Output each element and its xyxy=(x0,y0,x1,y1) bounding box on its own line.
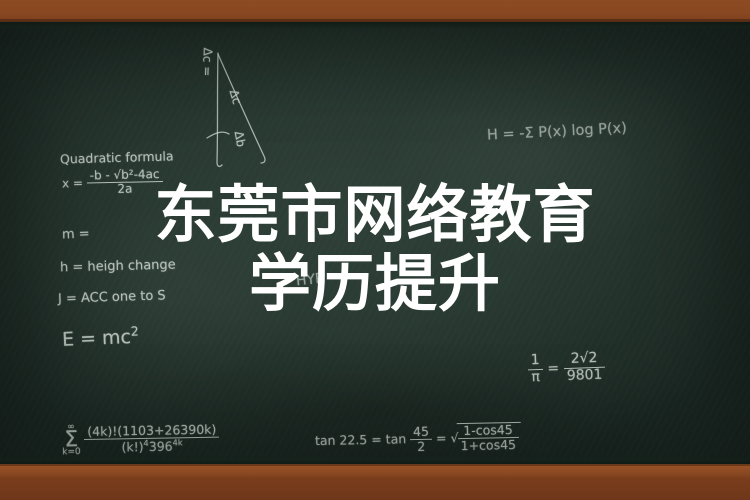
half-angle-fraction: 45 2 xyxy=(410,425,433,454)
half-angle-lhs: tan 22.5 = tan xyxy=(315,431,406,448)
den-tail-exp: 4k xyxy=(172,437,182,447)
chalkboard-frame-top xyxy=(0,0,750,22)
radical-bar: 1-cos45 1+cos45 xyxy=(456,422,521,453)
inverse-pi-right-fraction: 2√2 9801 xyxy=(563,351,606,385)
half-angle-num: 45 xyxy=(410,425,432,440)
board-inner-edge-top xyxy=(0,22,750,29)
ramanujan-sigma: ∞ Σ k=0 xyxy=(62,423,81,458)
chalk-delta-b: Δb xyxy=(232,130,249,148)
chalk-shannon-entropy: H = -Σ P(x) log P(x) xyxy=(487,120,628,143)
board-vignette xyxy=(0,22,750,464)
half-angle-equals: = xyxy=(436,430,447,445)
inv-pi-equals: = xyxy=(547,360,559,376)
chalk-quadratic-formula: x = -b - √b²-4ac 2a xyxy=(62,168,163,198)
chalk-half-angle-formula: tan 22.5 = tan 45 2 = √ 1-cos45 1+cos45 xyxy=(315,422,521,456)
radical-fraction: 1-cos45 1+cos45 xyxy=(457,423,519,453)
quadratic-fraction: -b - √b²-4ac 2a xyxy=(87,168,163,197)
chalk-delta-c-1: Δc = xyxy=(200,47,215,76)
mass-energy-text: E = mc xyxy=(62,326,132,351)
den-base: (k!) xyxy=(121,439,143,454)
quadratic-lhs: x = xyxy=(62,176,83,190)
den-tail: 396 xyxy=(149,439,173,454)
chalk-inverse-pi: 1 π = 2√2 9801 xyxy=(527,351,605,386)
inv-pi-den-right: 9801 xyxy=(564,367,606,384)
ramanujan-denominator: (k!)43964k xyxy=(84,438,219,456)
chalk-mass-energy: E = mc2 xyxy=(62,323,140,351)
quadratic-denominator: 2a xyxy=(87,182,163,197)
chalk-height-note: h = heigh change xyxy=(60,258,176,276)
chalk-quadratic-title: Quadratic formula xyxy=(60,148,174,166)
chalkboard-surface: Δc = Δc Δb Quadratic formula x = -b - √b… xyxy=(0,22,750,464)
half-angle-den: 2 xyxy=(410,440,432,454)
inverse-pi-left-fraction: 1 π xyxy=(527,353,543,386)
mass-energy-exponent: 2 xyxy=(130,323,139,338)
chalkboard-frame-bottom xyxy=(0,464,750,500)
chalk-ramanujan-series: ∞ Σ k=0 (4k)!(1103+26390k) (k!)43964k xyxy=(62,421,220,458)
radical-den: 1+cos45 xyxy=(458,438,520,453)
chalk-slope-note: m = xyxy=(62,227,90,243)
board-inner-edge-bottom xyxy=(0,457,750,464)
inv-pi-den-left: π xyxy=(528,369,543,385)
chalk-hypotenuse-label: HYP xyxy=(295,271,324,290)
inv-pi-num-left: 1 xyxy=(527,353,542,370)
chalk-accel-note: J = ACC one to S xyxy=(58,288,166,306)
poster-image: Δc = Δc Δb Quadratic formula x = -b - √b… xyxy=(0,0,750,500)
ramanujan-fraction: (4k)!(1103+26390k) (k!)43964k xyxy=(84,423,220,456)
